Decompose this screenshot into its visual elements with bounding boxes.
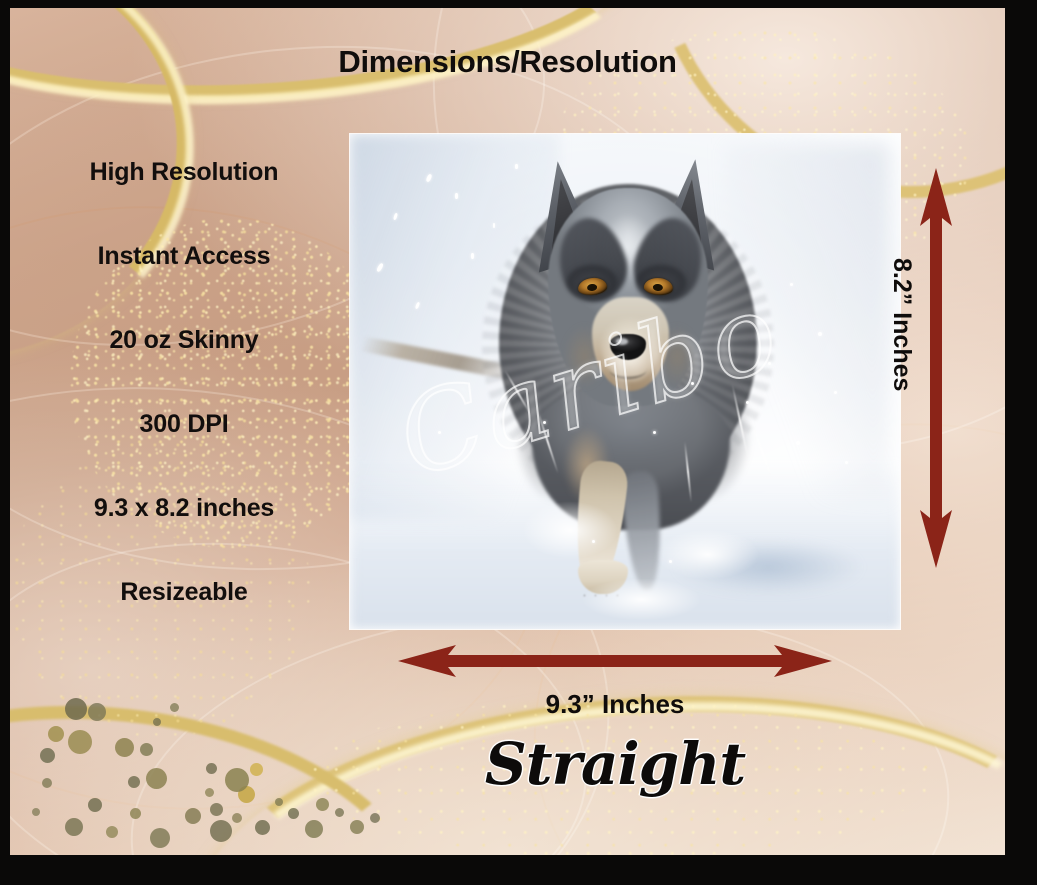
decorative-bubble bbox=[288, 808, 299, 819]
feature-item-20-oz-skinny: 20 oz Skinny bbox=[24, 326, 344, 355]
script-word-straight: Straight bbox=[398, 730, 832, 798]
feature-item-instant-access: Instant Access bbox=[24, 242, 344, 271]
decorative-bubble bbox=[350, 820, 364, 834]
snowflake bbox=[691, 382, 694, 385]
snowflake bbox=[438, 431, 441, 434]
decorative-bubble bbox=[88, 703, 106, 721]
horizontal-arrow-icon bbox=[398, 641, 832, 681]
snowflake bbox=[845, 461, 848, 464]
decorative-bubble bbox=[305, 820, 323, 838]
wolf-illustration bbox=[350, 134, 900, 629]
decorative-bubble bbox=[170, 703, 179, 712]
decorative-bubble bbox=[150, 828, 170, 848]
wolf-pupil-left bbox=[587, 283, 598, 292]
decorative-bubble bbox=[88, 798, 102, 812]
decorative-bubble bbox=[140, 743, 153, 756]
decorative-bubble bbox=[370, 813, 380, 823]
snowflake bbox=[669, 560, 672, 563]
snowflake bbox=[455, 193, 458, 199]
snowflake bbox=[515, 164, 518, 169]
snowflake bbox=[768, 362, 771, 365]
page-title: Dimensions/Resolution bbox=[10, 44, 1005, 80]
snowflake bbox=[543, 421, 546, 424]
decorative-bubble bbox=[40, 748, 55, 763]
snowflake bbox=[790, 283, 793, 286]
decorative-bubble bbox=[42, 778, 52, 788]
vertical-measurement-label: 8.2” Inches bbox=[887, 258, 916, 478]
snowflake bbox=[592, 540, 595, 543]
decorative-bubble bbox=[238, 786, 255, 803]
decorative-bubble bbox=[255, 820, 270, 835]
decorative-bubble bbox=[65, 818, 83, 836]
snowflake bbox=[493, 223, 495, 228]
decorative-bubble bbox=[275, 798, 283, 806]
feature-item-high-resolution: High Resolution bbox=[24, 158, 344, 187]
feature-item-300-dpi: 300 DPI bbox=[24, 410, 344, 439]
decorative-bubble bbox=[32, 808, 40, 816]
decorative-bubble bbox=[153, 718, 161, 726]
decorative-bubble bbox=[128, 776, 140, 788]
decorative-bubble bbox=[316, 798, 329, 811]
feature-list: High Resolution Instant Access 20 oz Ski… bbox=[24, 158, 344, 662]
snow-spray bbox=[559, 570, 724, 629]
decorative-bubble bbox=[250, 763, 263, 776]
wolf-mouth bbox=[609, 359, 648, 379]
decorative-bubble bbox=[210, 803, 223, 816]
decorative-bubble bbox=[115, 738, 134, 757]
horizontal-measurement-label: 9.3” Inches bbox=[398, 689, 832, 720]
decorative-bubble bbox=[65, 698, 87, 720]
decorative-bubble bbox=[130, 808, 141, 819]
decorative-bubble bbox=[205, 788, 214, 797]
gold-ribbon bbox=[10, 676, 447, 855]
decorative-bubble bbox=[106, 826, 118, 838]
decorative-bubble bbox=[206, 763, 217, 774]
decorative-bubble bbox=[210, 820, 232, 842]
feature-item-resizeable: Resizeable bbox=[24, 578, 344, 607]
snowflake bbox=[653, 431, 656, 434]
snowflake bbox=[796, 441, 800, 445]
snow-spray bbox=[504, 490, 636, 569]
decorative-bubble bbox=[335, 808, 344, 817]
outer-black-frame: Dimensions/Resolution High Resolution In… bbox=[0, 0, 1037, 885]
product-image-wolf[interactable]: Caribo bbox=[350, 134, 900, 629]
snowflake bbox=[818, 332, 822, 336]
wolf-nose-highlight bbox=[616, 338, 628, 345]
decorative-bubble bbox=[225, 768, 249, 792]
marble-background-canvas: Dimensions/Resolution High Resolution In… bbox=[10, 8, 1005, 855]
vertical-arrow-icon bbox=[916, 168, 956, 568]
wolf-pupil-right bbox=[652, 283, 663, 292]
decorative-bubble bbox=[48, 726, 64, 742]
feature-item-dimensions: 9.3 x 8.2 inches bbox=[24, 494, 344, 523]
snowflake bbox=[471, 253, 474, 259]
decorative-bubble bbox=[68, 730, 92, 754]
decorative-bubble bbox=[185, 808, 201, 824]
decorative-bubble bbox=[146, 768, 167, 789]
decorative-bubble bbox=[232, 813, 242, 823]
